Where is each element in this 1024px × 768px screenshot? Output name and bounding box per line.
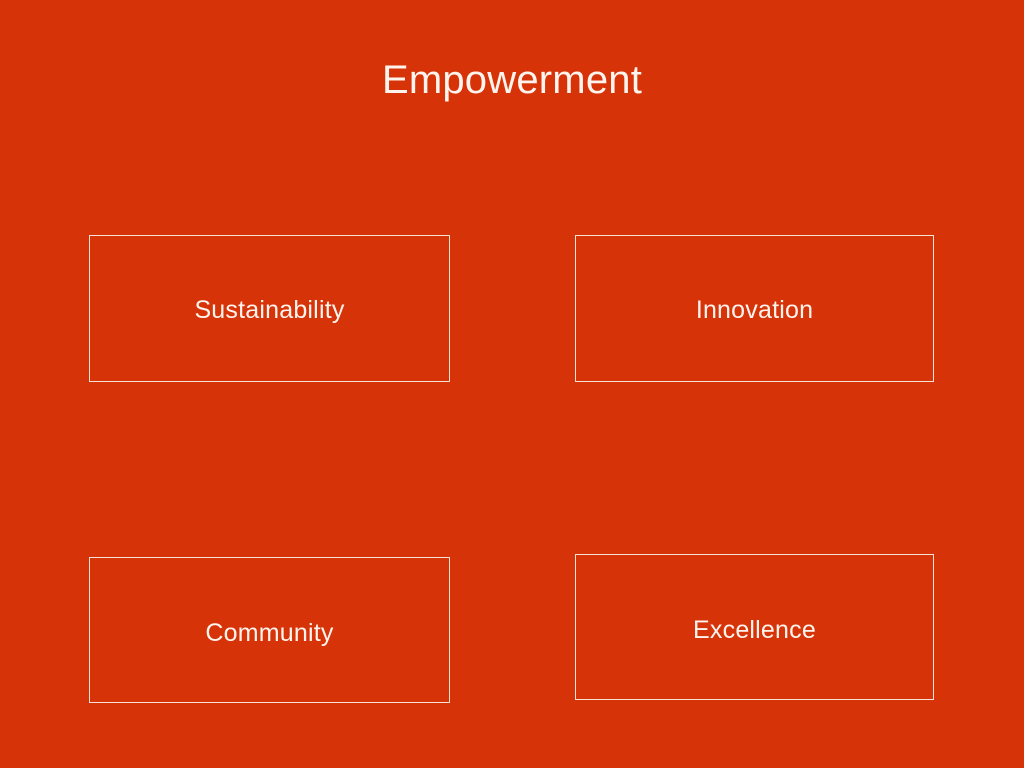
value-box-label: Sustainability — [90, 295, 449, 325]
value-box-label: Innovation — [576, 295, 933, 325]
value-box-label: Community — [90, 618, 449, 648]
value-box-innovation[interactable]: Innovation — [575, 235, 934, 382]
page-title: Empowerment — [0, 58, 1024, 102]
value-box-community[interactable]: Community — [89, 557, 450, 703]
value-box-label: Excellence — [576, 615, 933, 645]
value-box-sustainability[interactable]: Sustainability — [89, 235, 450, 382]
slide-canvas: Empowerment Sustainability Innovation Co… — [0, 0, 1024, 768]
value-box-excellence[interactable]: Excellence — [575, 554, 934, 700]
